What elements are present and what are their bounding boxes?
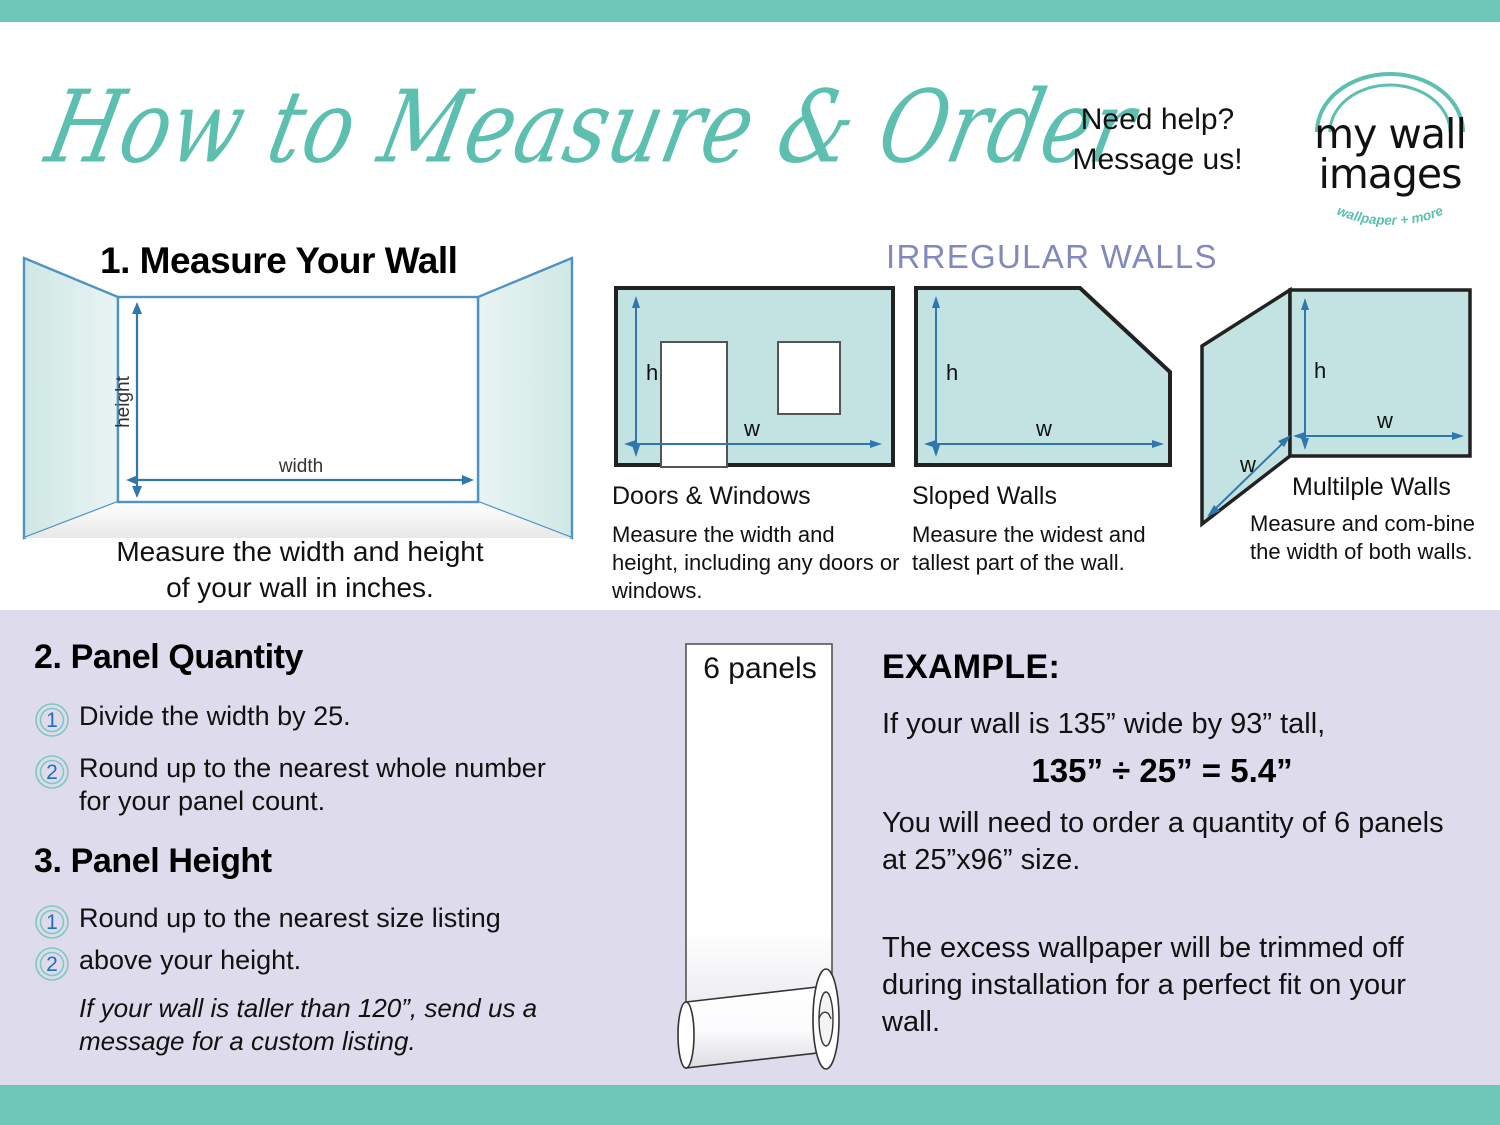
section3-note: If your wall is taller than 120”, send u… (79, 992, 569, 1057)
logo-tagline-text: wallpaper + more (1335, 203, 1446, 228)
step-text: Divide the width by 25. (79, 700, 351, 733)
measure-wall-diagram: height width (8, 252, 588, 542)
example-line2: You will need to order a quantity of 6 p… (882, 805, 1447, 879)
section2-step-1: 1 Divide the width by 25. (34, 700, 574, 738)
width-label: width (278, 456, 323, 477)
header-section: How to Measure & Order Need help? Messag… (0, 22, 1500, 610)
doors-w-label: w (743, 416, 760, 441)
svg-text:2: 2 (46, 761, 58, 784)
irregular-walls-heading: IRREGULAR WALLS (886, 238, 1218, 276)
section1-caption: Measure the width and height of your wal… (20, 534, 580, 607)
need-help-line2: Message us! (1045, 140, 1270, 180)
need-help-block: Need help? Message us! (1045, 100, 1270, 179)
irregular-item-desc: Measure the widest and tallest part of t… (912, 521, 1182, 577)
top-accent-bar (0, 0, 1500, 22)
section1-caption-line1: Measure the width and height (20, 534, 580, 570)
irregular-item-doors-windows: h w Doors & Windows Measure the width an… (612, 284, 902, 605)
floor (24, 502, 572, 538)
svg-text:1: 1 (46, 911, 58, 934)
step-text: Round up to the nearest whole number for… (79, 752, 574, 818)
irregular-item-sloped-walls: h w Sloped Walls Measure the widest and … (912, 284, 1182, 577)
example-line1: If your wall is 135” wide by 93” tall, (882, 706, 1452, 742)
bottom-accent-bar (0, 1085, 1500, 1125)
example-equation: 135” ÷ 25” = 5.4” (882, 752, 1442, 790)
svg-text:2: 2 (46, 953, 58, 976)
brand-logo: my wall images wallpaper + more (1300, 72, 1480, 222)
sloped-w-label: w (1035, 416, 1052, 441)
step-text: Round up to the nearest size listing (79, 902, 501, 935)
multi-h-label: h (1314, 358, 1326, 383)
section1-caption-line2: of your wall in inches. (20, 570, 580, 606)
sloped-h-label: h (946, 360, 958, 385)
step-number-badge-icon: 2 (34, 946, 70, 982)
section3-title: 3. Panel Height (34, 842, 272, 881)
doors-h-label: h (646, 360, 658, 385)
example-line3: The excess wallpaper will be trimmed off… (882, 930, 1447, 1041)
irregular-item-name: Sloped Walls (912, 483, 1182, 511)
height-label: height (113, 375, 134, 427)
irregular-item-desc: Measure and com-bine the width of both w… (1250, 510, 1493, 566)
svg-text:1: 1 (46, 709, 58, 732)
doors-windows-diagram: h w (612, 284, 897, 469)
multi-w2-label: w (1239, 452, 1256, 477)
logo-tagline-arc: wallpaper + more (1308, 190, 1472, 230)
irregular-item-name: Doors & Windows (612, 483, 902, 511)
section2-step-2: 2 Round up to the nearest whole number f… (34, 752, 574, 818)
page-title: How to Measure & Order (31, 70, 1022, 216)
roll-panel-count-label: 6 panels (676, 652, 844, 686)
irregular-item-multiple-walls: h w w Multilple Walls Measure and com-bi… (1190, 284, 1490, 534)
section3-step-1: 1 Round up to the nearest size listing (34, 902, 594, 940)
multi-w-label: w (1376, 408, 1393, 433)
step-number-badge-icon: 1 (34, 702, 70, 738)
wallpaper-roll-illustration (676, 640, 854, 1088)
sloped-wall-diagram: h w (912, 284, 1174, 469)
infographic-page: How to Measure & Order Need help? Messag… (0, 0, 1500, 1125)
step-number-badge-icon: 2 (34, 754, 70, 790)
need-help-line1: Need help? (1045, 100, 1270, 140)
irregular-item-desc: Measure the width and height, including … (612, 521, 902, 605)
irregular-item-name: Multilple Walls (1292, 474, 1451, 502)
section2-title: 2. Panel Quantity (34, 638, 303, 677)
section3-step-2: 2 above your height. (34, 944, 594, 982)
example-title: EXAMPLE: (882, 648, 1060, 687)
step-number-badge-icon: 1 (34, 904, 70, 940)
step-text: above your height. (79, 944, 301, 977)
left-side-wall (24, 258, 118, 538)
section1-title: 1. Measure Your Wall (100, 240, 457, 282)
right-side-wall (478, 258, 572, 538)
